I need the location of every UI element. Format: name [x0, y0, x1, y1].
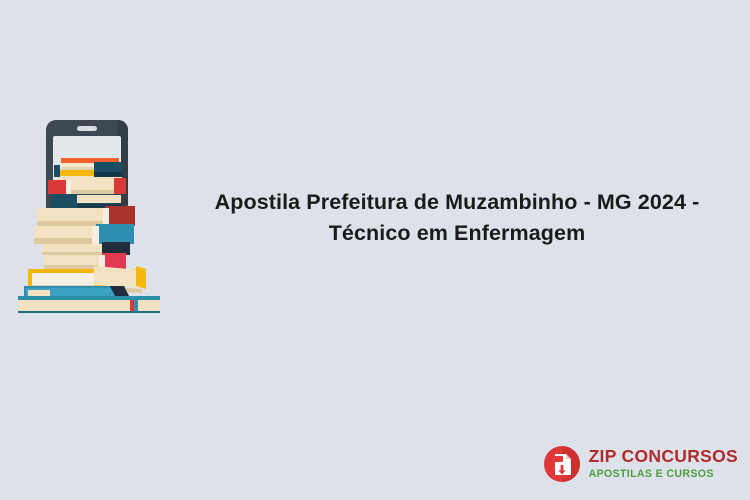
- hero-section: Apostila Prefeitura de Muzambinho - MG 2…: [0, 118, 750, 318]
- page-title: Apostila Prefeitura de Muzambinho - MG 2…: [197, 187, 717, 248]
- brand-tagline: APOSTILAS E CURSOS: [589, 469, 738, 480]
- brand-logo: ZIP CONCURSOS APOSTILAS E CURSOS: [543, 442, 738, 486]
- brand-name: ZIP CONCURSOS: [589, 448, 738, 466]
- title-container: Apostila Prefeitura de Muzambinho - MG 2…: [178, 118, 750, 318]
- illustration-container: [0, 118, 178, 318]
- stack-of-books-with-tablet-icon: [4, 118, 174, 313]
- pdf-document-download-icon: [543, 445, 581, 483]
- promo-card: Apostila Prefeitura de Muzambinho - MG 2…: [0, 0, 750, 500]
- brand-text-block: ZIP CONCURSOS APOSTILAS E CURSOS: [589, 448, 738, 479]
